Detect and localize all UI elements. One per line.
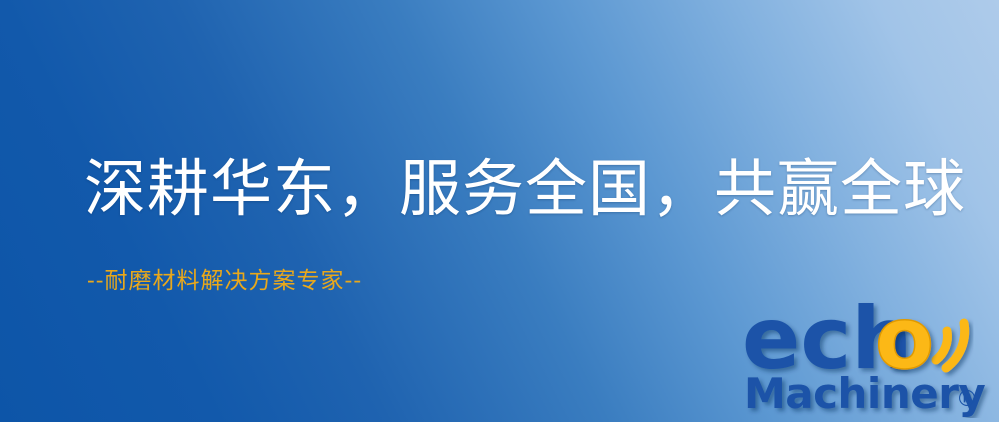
logo-tagline: Machinery [744, 369, 985, 418]
banner-headline: 深耕华东，服务全国，共赢全球 [84, 152, 966, 226]
company-logo[interactable]: ech o Machinery ® [742, 298, 994, 418]
banner-subtitle: --耐磨材料解决方案专家-- [87, 266, 362, 296]
echo-wave-icon [936, 323, 965, 368]
registered-trademark-icon: ® [956, 387, 978, 412]
hero-banner: 深耕华东，服务全国，共赢全球 --耐磨材料解决方案专家-- ech o Mach… [0, 0, 999, 422]
